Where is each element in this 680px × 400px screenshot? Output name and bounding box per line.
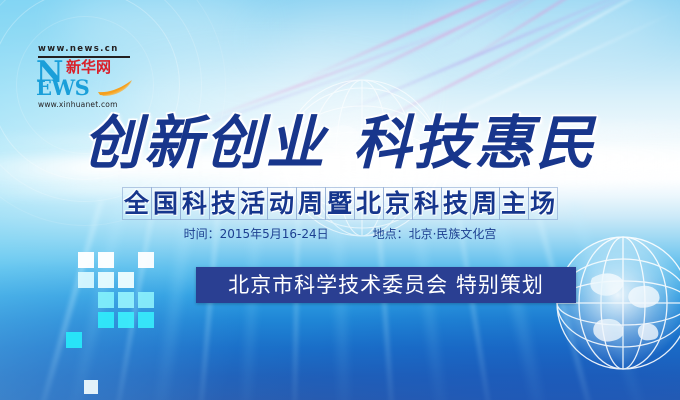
organizer-bar: 北京市科学技术委员会 特别策划 — [196, 267, 576, 303]
organizer-label: 北京市科学技术委员会 特别策划 — [228, 274, 544, 296]
subtitle-char: 周 — [470, 187, 500, 220]
mosaic-square — [118, 312, 134, 328]
subtitle-char: 主 — [499, 187, 529, 220]
mosaic-square — [98, 312, 114, 328]
headline-part-2: 科技惠民 — [353, 109, 597, 177]
mosaic-square — [138, 252, 154, 268]
mosaic-square — [66, 332, 82, 348]
xinhuanet-logo[interactable]: www.news.cn N EWS 新华网 www.xinhuanet.com — [36, 44, 132, 112]
page-title: 创新创业科技惠民 — [0, 112, 680, 174]
subtitle-char: 动 — [267, 187, 297, 220]
mosaic-square — [78, 272, 94, 288]
event-time: 时间：2015年5月16-24日 — [184, 227, 329, 241]
logo-url-bottom: www.xinhuanet.com — [38, 100, 134, 109]
subtitle-char: 技 — [209, 187, 239, 220]
mosaic-square — [98, 292, 114, 308]
logo-chinese-name: 新华网 — [66, 59, 111, 75]
subtitle-char: 活 — [238, 187, 268, 220]
subtitle-char: 场 — [528, 187, 558, 220]
event-meta: 时间：2015年5月16-24日 地点：北京·民族文化宫 — [0, 227, 680, 241]
subtitle-char: 科 — [180, 187, 210, 220]
mosaic-square — [98, 272, 114, 288]
logo-url-top: www.news.cn — [38, 44, 130, 54]
mosaic-square — [98, 252, 114, 268]
subtitle-char: 科 — [412, 187, 442, 220]
subtitle-char: 暨 — [325, 187, 355, 220]
mosaic-square — [138, 312, 154, 328]
logo-letters-ews: EWS — [36, 77, 89, 98]
logo-mark: N EWS 新华网 — [36, 58, 132, 98]
mosaic-square — [118, 292, 134, 308]
subtitle-char: 技 — [441, 187, 471, 220]
mosaic-square — [118, 272, 134, 288]
mosaic-square — [78, 252, 94, 268]
subtitle-char: 国 — [151, 187, 181, 220]
pixel-mosaic — [78, 252, 170, 344]
event-location: 地点：北京·民族文化宫 — [373, 227, 497, 241]
subtitle-char: 北 — [354, 187, 384, 220]
headline-part-1: 创新创业 — [83, 109, 327, 177]
banner-root: www.news.cn N EWS 新华网 www.xinhuanet.com … — [0, 0, 680, 400]
subtitle-char: 全 — [122, 187, 152, 220]
mosaic-square-outlier — [84, 380, 98, 394]
subtitle-char: 京 — [383, 187, 413, 220]
subtitle-char: 周 — [296, 187, 326, 220]
logo-swoosh-icon — [98, 80, 134, 96]
subtitle-grid: 全 国 科 技 活 动 周 暨 北 京 科 技 周 主 场 — [0, 187, 680, 220]
mosaic-square — [138, 292, 154, 308]
